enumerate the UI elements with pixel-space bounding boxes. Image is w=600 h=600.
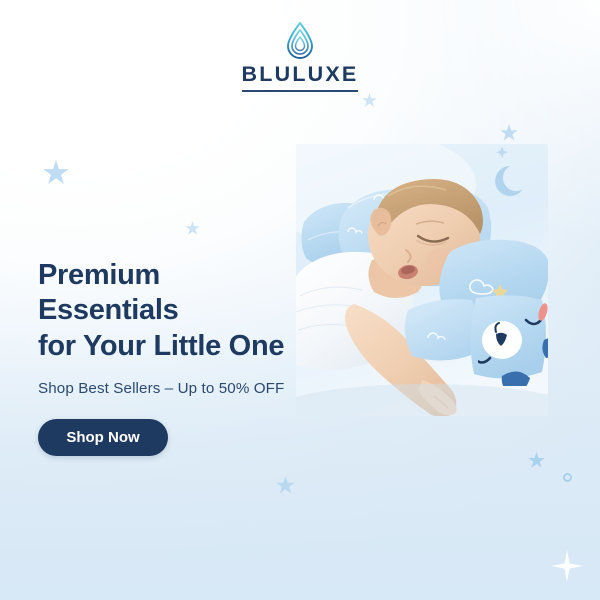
baby-pillow-illustration [296, 144, 548, 416]
promo-banner: BLULUXE Premium Essentials for Your Litt… [0, 0, 600, 600]
hero-subhead: Shop Best Sellers – Up to 50% OFF [38, 380, 306, 397]
sparkle-icon-bottom-right [551, 550, 583, 582]
page-title: Premium Essentials for Your Little One [38, 258, 306, 364]
star-icon-mid-left [185, 221, 200, 236]
star-icon-bottom-right [528, 452, 545, 469]
star-icon-top-right [500, 124, 518, 142]
shop-now-button[interactable]: Shop Now [38, 419, 168, 456]
water-drop-icon [285, 22, 315, 60]
headline-line-2: for Your Little One [38, 329, 306, 364]
ring-icon-bottom-right [563, 473, 572, 482]
star-icon-bottom-center [276, 476, 295, 495]
brand-wordmark: BLULUXE [242, 64, 359, 92]
brand-logo[interactable]: BLULUXE [0, 22, 600, 92]
headline-line-1: Premium Essentials [38, 258, 306, 329]
product-photo [296, 144, 548, 416]
star-icon-top-center [362, 93, 377, 108]
star-icon-top-left [43, 160, 69, 186]
hero-copy: Premium Essentials for Your Little One S… [38, 258, 306, 456]
